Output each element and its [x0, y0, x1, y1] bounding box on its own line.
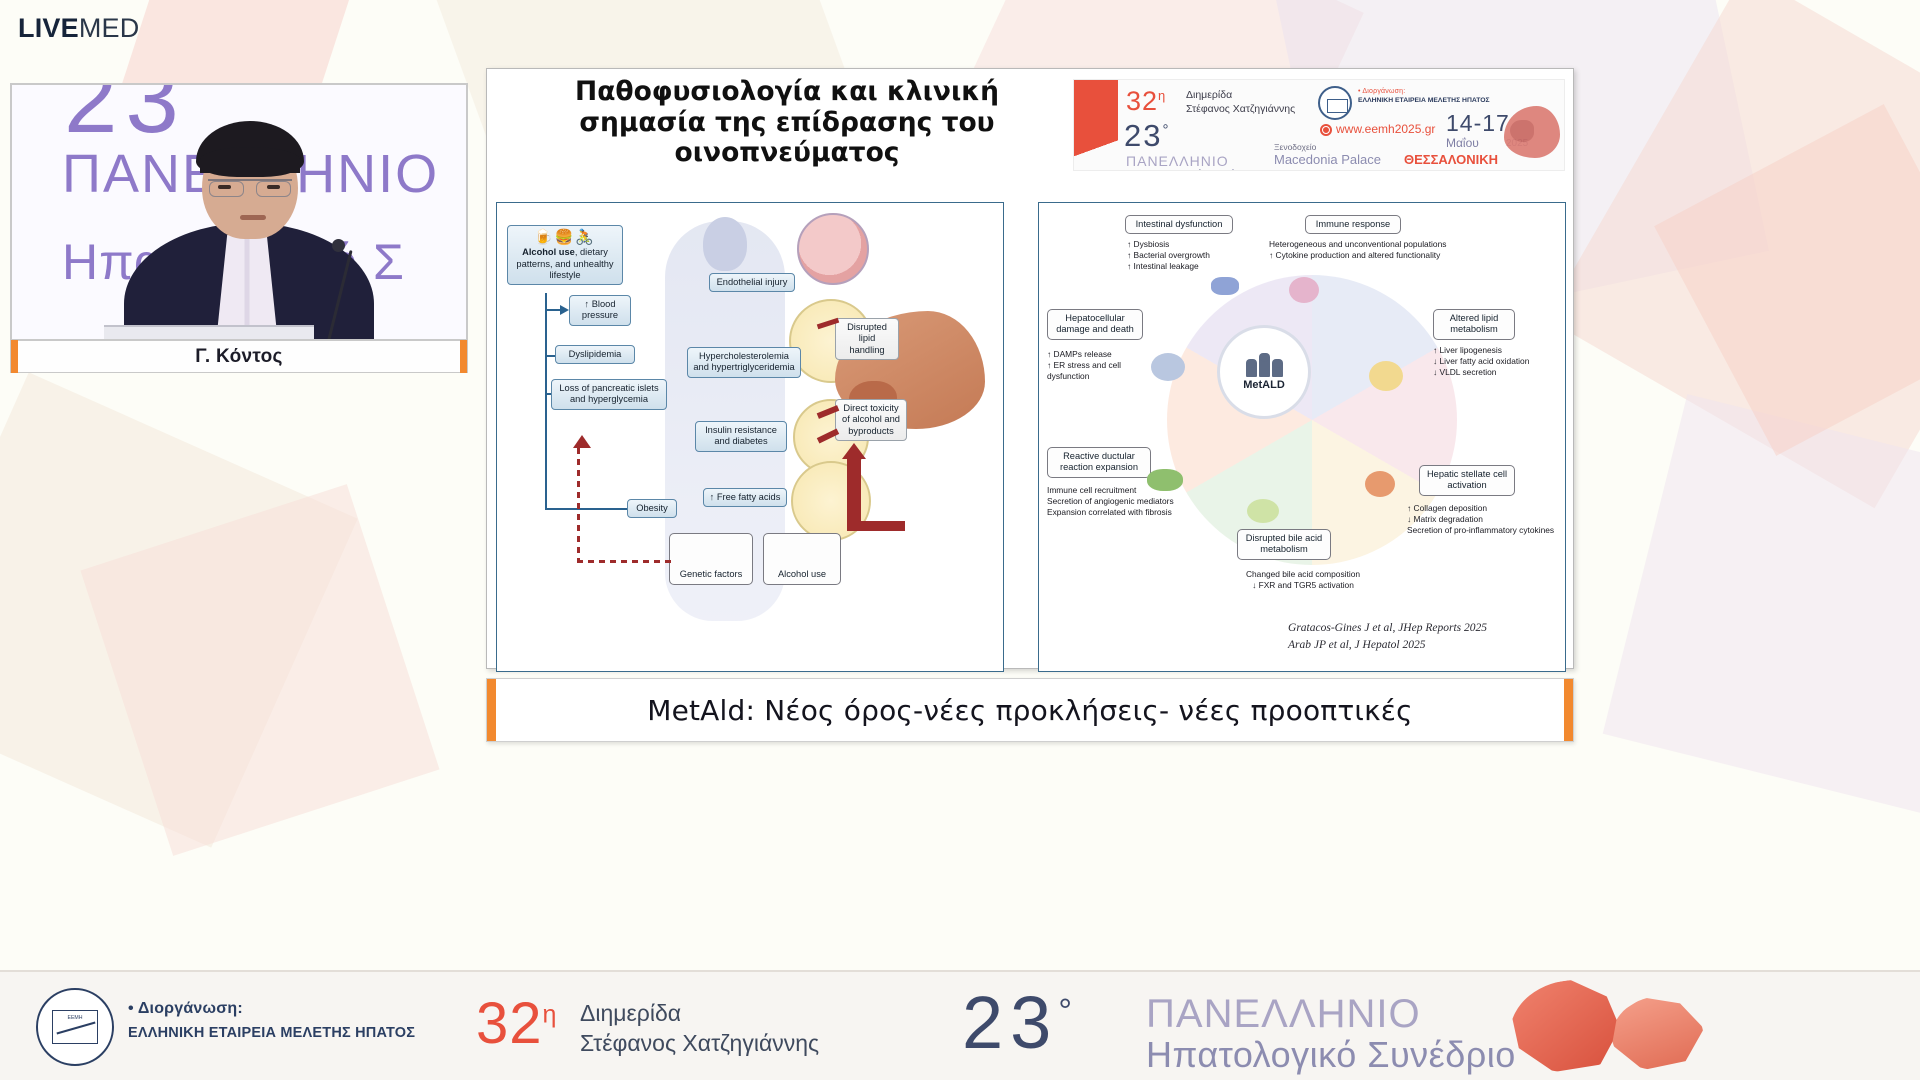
item-collagen-deposition: ↑ Collagen deposition [1407, 503, 1563, 514]
footer-32-sup: η [543, 1001, 558, 1029]
footer-organizer-name: ΕΛΛΗΝΙΚΗ ΕΤΑΙΡΕΙΑ ΜΕΛΕΤΗΣ ΗΠΑΤΟΣ [128, 1025, 415, 1041]
lifestyle-box-text: Alcohol use, dietary patterns, and unhea… [513, 247, 617, 281]
immune-cell-illustration [1289, 277, 1319, 303]
livemed-logo: LIVEMED [18, 13, 139, 44]
item-fatty-acid-oxidation: ↓ Liver fatty acid oxidation [1433, 356, 1529, 367]
footer-dimerida-line1: Διημερίδα [580, 998, 819, 1028]
banner-synedrio: Ηπατολογικό Συνέδριο [1126, 168, 1261, 171]
insulin-box: Insulin resistance and diabetes [695, 421, 787, 452]
video-frame[interactable]: 23 ΠΑΝΕΛΛΗΝΙΟ Ηπατολογικό Σ [10, 83, 468, 341]
microbiota-illustration [1211, 277, 1239, 295]
eemh-logo-icon: ΕΕΜΗ [36, 988, 114, 1066]
footer-dimerida: Διημερίδα Στέφανος Χατζηγιάννης [580, 998, 819, 1059]
item-matrix-degradation: ↓ Matrix degradation [1407, 514, 1563, 525]
session-title-bar: MetAld: Νέος όρος-νέες προκλήσεις- νέες … [486, 678, 1574, 742]
sector-title-intestinal: Intestinal dysfunction [1125, 215, 1233, 234]
item-fibrosis-expansion: Expansion correlated with fibrosis [1047, 507, 1227, 518]
speaker-eye-right [267, 185, 280, 189]
banner-dates: 14-17 [1446, 110, 1510, 137]
sector-items-hepatocellular: ↑ DAMPs release ↑ ER stress and cell dys… [1047, 349, 1157, 382]
arrow-bp [560, 305, 569, 315]
item-dysbiosis: ↑ Dysbiosis [1127, 239, 1210, 250]
presentation-slide[interactable]: Παθοφυσιολογία και κλινική σημασία της ε… [486, 68, 1574, 669]
item-angiogenic-mediators: Secretion of angiogenic mediators [1047, 496, 1227, 507]
sector-title-ductular: Reactive ductular reaction expansion [1047, 447, 1151, 478]
sector-items-immune: Heterogeneous and unconventional populat… [1269, 239, 1565, 261]
podium [104, 325, 314, 341]
banner-dimerida: Διημερίδα Στέφανος Χατζηγιάννης [1186, 88, 1295, 116]
people-icon [1246, 353, 1283, 377]
metald-label: MetALD [1243, 379, 1285, 391]
item-vldl-secretion: ↓ VLDL secretion [1433, 367, 1529, 378]
sector-items-lipid: ↑ Liver lipogenesis ↓ Liver fatty acid o… [1433, 345, 1529, 378]
sector-title-lipid: Altered lipid metabolism [1433, 309, 1515, 340]
banner-hotel-label: Ξενοδοχείο [1274, 142, 1316, 152]
alcohol-use-label: Alcohol use [778, 569, 826, 580]
citation-line-2: Arab JP et al, J Hepatol 2025 [1288, 637, 1487, 654]
banner-url: www.eemh2025.gr [1336, 122, 1435, 136]
footer-liver-icon [1510, 980, 1620, 1072]
sector-items-ductular: Immune cell recruitment Secretion of ang… [1047, 485, 1227, 518]
footer-number-23: 23° [962, 980, 1079, 1065]
speaker-figure [124, 127, 374, 341]
human-head-illustration [703, 217, 747, 271]
lipid-droplet-illustration [1369, 361, 1403, 391]
banner-dimerida-line1: Διημερίδα [1186, 88, 1295, 102]
feedback-arrow-head [573, 435, 591, 448]
footer-liver-icon-2 [1612, 996, 1704, 1070]
speaker-name: Γ. Κόντος [195, 346, 283, 368]
ductular-cell-illustration [1147, 469, 1183, 491]
footer-32-value: 32 [476, 991, 543, 1056]
banner-number-32: 32η [1126, 86, 1166, 117]
lifestyle-icons: 🍺🍔🚴 [513, 229, 617, 247]
banner-organizer-name: ΕΛΛΗΝΙΚΗ ΕΤΑΙΡΕΙΑ ΜΕΛΕΤΗΣ ΗΠΑΤΟΣ [1358, 97, 1490, 104]
connector-bp [545, 309, 561, 311]
sector-title-immune: Immune response [1305, 215, 1401, 234]
sector-items-stellate: ↑ Collagen deposition ↓ Matrix degradati… [1407, 503, 1563, 536]
footer-number-32: 32η [476, 990, 557, 1057]
speaker-eye-left [218, 185, 231, 189]
footer-dimerida-line2: Στέφανος Χατζηγιάννης [580, 1028, 819, 1058]
item-lipogenesis: ↑ Liver lipogenesis [1433, 345, 1529, 356]
feedback-dashed-horizontal [577, 560, 671, 563]
item-cytokine-production: ↑ Cytokine production and altered functi… [1269, 250, 1565, 261]
item-heterogeneous-populations: Heterogeneous and unconventional populat… [1269, 239, 1565, 250]
eemh-seal-icon [1318, 86, 1352, 120]
banner-month: Μαΐου [1446, 136, 1479, 150]
banner-number-23: 23° [1124, 118, 1170, 154]
speaker-name-bar: Γ. Κόντος [10, 341, 468, 373]
banner-organizer-label: • Διοργάνωση: [1358, 88, 1405, 95]
footer-panellinio: ΠΑΝΕΛΛΗΝΙΟ [1146, 992, 1421, 1037]
figure-left-panel: 🍺🍔🚴 Alcohol use, dietary patterns, and u… [496, 202, 1004, 672]
banner-hotel-name: Macedonia Palace [1274, 152, 1381, 167]
item-fxr-tgr5: ↓ FXR and TGR5 activation [1193, 580, 1413, 591]
hypercholesterolemia-box: Hypercholesterolemia and hypertriglyceri… [687, 347, 801, 378]
citation-block: Gratacos-Gines J et al, JHep Reports 202… [1288, 620, 1487, 655]
microphone-head-icon [332, 239, 345, 252]
footer-23-sup: ° [1058, 992, 1079, 1030]
endothelial-box: Endothelial injury [709, 273, 795, 292]
slide-title: Παθοφυσιολογία και κλινική σημασία της ε… [527, 77, 1047, 169]
item-bacterial-overgrowth: ↑ Bacterial overgrowth [1127, 250, 1210, 261]
item-immune-recruitment: Immune cell recruitment [1047, 485, 1227, 496]
disrupted-lipid-box: Disrupted lipid handling [835, 318, 899, 360]
footer-synedrio: Ηπατολογικό Συνέδριο [1146, 1034, 1516, 1076]
brand-part-med: MED [79, 13, 140, 43]
sector-items-intestinal: ↑ Dysbiosis ↑ Bacterial overgrowth ↑ Int… [1127, 239, 1210, 272]
item-intestinal-leakage: ↑ Intestinal leakage [1127, 261, 1210, 272]
footer-23-value: 23 [962, 981, 1058, 1064]
sector-title-stellate: Hepatic stellate cell activation [1419, 465, 1515, 496]
banner-red-accent [1074, 80, 1118, 170]
citation-line-1: Gratacos-Gines J et al, JHep Reports 202… [1288, 620, 1487, 637]
genetic-factors-box: Genetic factors [669, 533, 753, 585]
red-arrow-thick-head [842, 443, 866, 459]
sector-title-bile: Disrupted bile acid metabolism [1237, 529, 1331, 560]
eemh-logo-label: ΕΕΜΗ [53, 1015, 97, 1021]
banner-23-value: 23 [1124, 118, 1162, 153]
liver-icon [1504, 106, 1560, 158]
session-title: MetAld: Νέος όρος-νέες προκλήσεις- νέες … [647, 694, 1413, 727]
item-er-stress: ↑ ER stress and cell dysfunction [1047, 360, 1157, 382]
brand-part-live: LIVE [18, 13, 79, 43]
speaker-hair [196, 121, 304, 177]
alcohol-use-box: Alcohol use [763, 533, 841, 585]
blood-vessel-illustration [797, 213, 869, 285]
metald-center: MetALD [1217, 325, 1311, 419]
banner-23-sup: ° [1162, 122, 1170, 139]
item-bile-composition: Changed bile acid composition [1193, 569, 1413, 580]
red-arrow-thick [847, 455, 861, 527]
banner-city: ΘΕΣΣΑΛΟΝΙΚΗ [1404, 152, 1498, 167]
red-arrow-base [847, 521, 905, 531]
lifestyle-box: 🍺🍔🚴 Alcohol use, dietary patterns, and u… [507, 225, 623, 285]
conference-banner: 32η Διημερίδα Στέφανος Χατζηγιάννης 23° … [1073, 79, 1565, 171]
banner-panellinio: ΠΑΝΕΛΛΗΝΙΟ [1126, 153, 1229, 169]
blood-pressure-box: ↑ Blood pressure [569, 295, 631, 326]
feedback-dashed-line [577, 448, 580, 562]
connector-vertical [545, 293, 547, 509]
speaker-mouth [240, 215, 266, 220]
stellate-cell-illustration [1365, 471, 1395, 497]
hepatocyte-illustration [1151, 353, 1185, 381]
item-proinflammatory-cytokines: Secretion of pro-inflammatory cytokines [1407, 525, 1563, 536]
genetic-factors-label: Genetic factors [680, 569, 743, 580]
globe-icon [1320, 124, 1332, 136]
free-fatty-acids-box: ↑ Free fatty acids [703, 488, 787, 507]
direct-toxicity-box: Direct toxicity of alcohol and byproduct… [835, 399, 907, 441]
figure-right-panel: MetALD Intestinal dysfunction ↑ Dysbiosi… [1038, 202, 1566, 672]
speaker-video-panel[interactable]: 23 ΠΑΝΕΛΛΗΝΙΟ Ηπατολογικό Σ Γ. Κόντος [10, 83, 468, 373]
banner-32-sup: η [1158, 88, 1166, 103]
item-damps-release: ↑ DAMPs release [1047, 349, 1157, 360]
sector-title-hepatocellular: Hepatocellular damage and death [1047, 309, 1143, 340]
obesity-box: Obesity [627, 499, 677, 518]
bile-acid-illustration [1247, 499, 1279, 523]
lifestyle-bold: Alcohol use [522, 247, 575, 257]
dyslipidemia-box: Dyslipidemia [555, 345, 635, 364]
page-footer: ΕΕΜΗ • Διοργάνωση: ΕΛΛΗΝΙΚΗ ΕΤΑΙΡΕΙΑ ΜΕΛ… [0, 970, 1920, 1080]
footer-organizer-label: • Διοργάνωση: [128, 1000, 415, 1018]
banner-32-value: 32 [1126, 86, 1158, 116]
eemh-logo-inner: ΕΕΜΗ [52, 1010, 98, 1044]
footer-organizer-block: • Διοργάνωση: ΕΛΛΗΝΙΚΗ ΕΤΑΙΡΕΙΑ ΜΕΛΕΤΗΣ … [128, 1000, 415, 1041]
bg-shape-8 [1603, 394, 1920, 816]
banner-dimerida-line2: Στέφανος Χατζηγιάννης [1186, 102, 1295, 116]
sector-items-bile: Changed bile acid composition ↓ FXR and … [1193, 569, 1413, 591]
pancreatic-box: Loss of pancreatic islets and hyperglyce… [551, 379, 667, 410]
